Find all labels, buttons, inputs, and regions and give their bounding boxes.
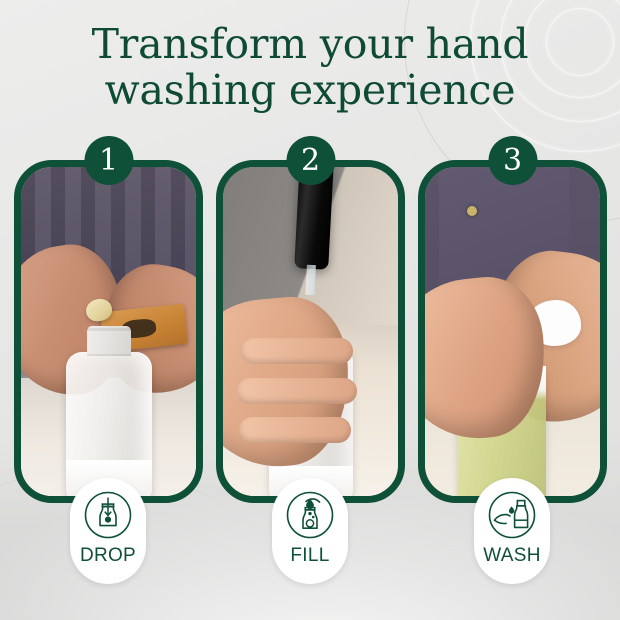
step-panel-1: 1 bbox=[14, 160, 203, 503]
step-1-photo bbox=[21, 167, 196, 496]
step-number-badge-1: 1 bbox=[84, 136, 133, 185]
step-3-photo-frame bbox=[418, 160, 607, 503]
page-title: Transform your hand washing experience bbox=[0, 22, 620, 114]
frosted-bottle bbox=[66, 352, 152, 496]
step-2-photo bbox=[223, 167, 398, 496]
step-number-badge-2: 2 bbox=[286, 136, 335, 185]
step-label-wash: WASH bbox=[474, 478, 550, 584]
step-1-photo-frame bbox=[14, 160, 203, 503]
hand-pump-wash-icon bbox=[484, 487, 540, 543]
step-label-fill: FILL bbox=[272, 478, 348, 584]
step-3-photo bbox=[425, 167, 600, 496]
bottle-tablet-drop-icon bbox=[80, 487, 136, 543]
step-label-drop: DROP bbox=[70, 478, 146, 584]
steps-row: 1 2 bbox=[0, 160, 620, 505]
step-panel-3: 3 bbox=[418, 160, 607, 503]
step-label-text: FILL bbox=[290, 545, 329, 567]
step-number-badge-3: 3 bbox=[488, 136, 537, 185]
bottle-water-fill-icon bbox=[282, 487, 338, 543]
promo-graphic: Transform your hand washing experience 1 bbox=[0, 0, 620, 620]
step-label-text: WASH bbox=[483, 545, 541, 567]
step-label-text: DROP bbox=[80, 545, 136, 567]
step-2-photo-frame bbox=[216, 160, 405, 503]
step-panel-2: 2 bbox=[216, 160, 405, 503]
